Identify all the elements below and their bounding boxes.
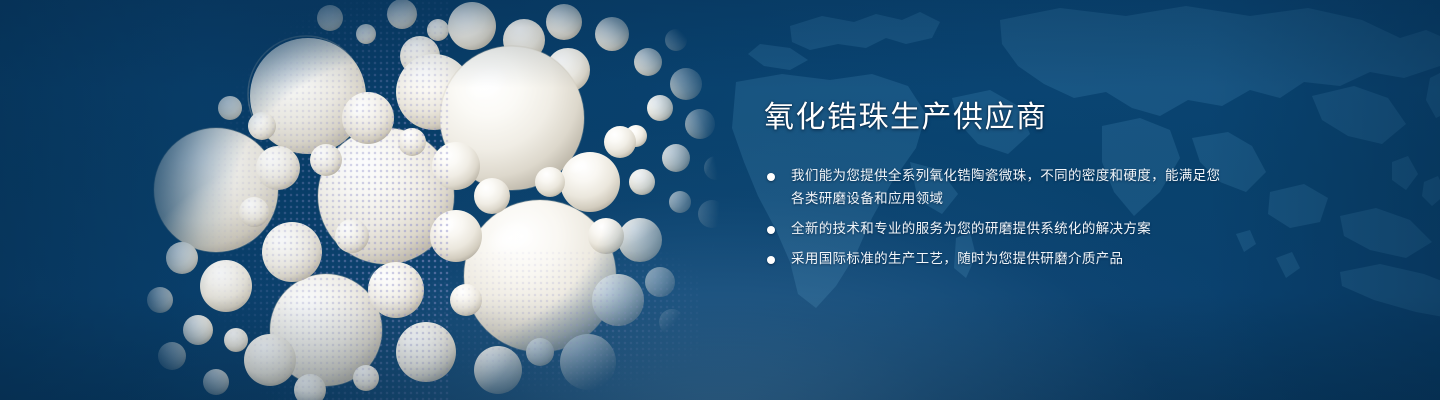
list-item-label: 我们能为您提供全系列氧化锆陶瓷微珠，不同的密度和硬度，能满足您各类研磨设备和应用… <box>791 165 1234 211</box>
list-item-label: 采用国际标准的生产工艺，随时为您提供研磨介质产品 <box>791 248 1234 271</box>
banner-copy: 氧化锆珠生产供应商 我们能为您提供全系列氧化锆陶瓷微珠，不同的密度和硬度，能满足… <box>764 100 1234 271</box>
list-item-label: 全新的技术和专业的服务为您的研磨提供系统化的解决方案 <box>791 218 1234 241</box>
zirconia-beads-photo <box>120 0 740 400</box>
bullet-dot-icon <box>767 173 775 181</box>
bead-cluster <box>120 0 740 400</box>
list-item: 我们能为您提供全系列氧化锆陶瓷微珠，不同的密度和硬度，能满足您各类研磨设备和应用… <box>764 165 1234 211</box>
list-item: 采用国际标准的生产工艺，随时为您提供研磨介质产品 <box>764 248 1234 271</box>
bullet-dot-icon <box>767 256 775 264</box>
hero-banner: 氧化锆珠生产供应商 我们能为您提供全系列氧化锆陶瓷微珠，不同的密度和硬度，能满足… <box>0 0 1440 400</box>
feature-list: 我们能为您提供全系列氧化锆陶瓷微珠，不同的密度和硬度，能满足您各类研磨设备和应用… <box>764 165 1234 271</box>
page-title: 氧化锆珠生产供应商 <box>764 100 1234 135</box>
list-item: 全新的技术和专业的服务为您的研磨提供系统化的解决方案 <box>764 218 1234 241</box>
bullet-dot-icon <box>767 226 775 234</box>
